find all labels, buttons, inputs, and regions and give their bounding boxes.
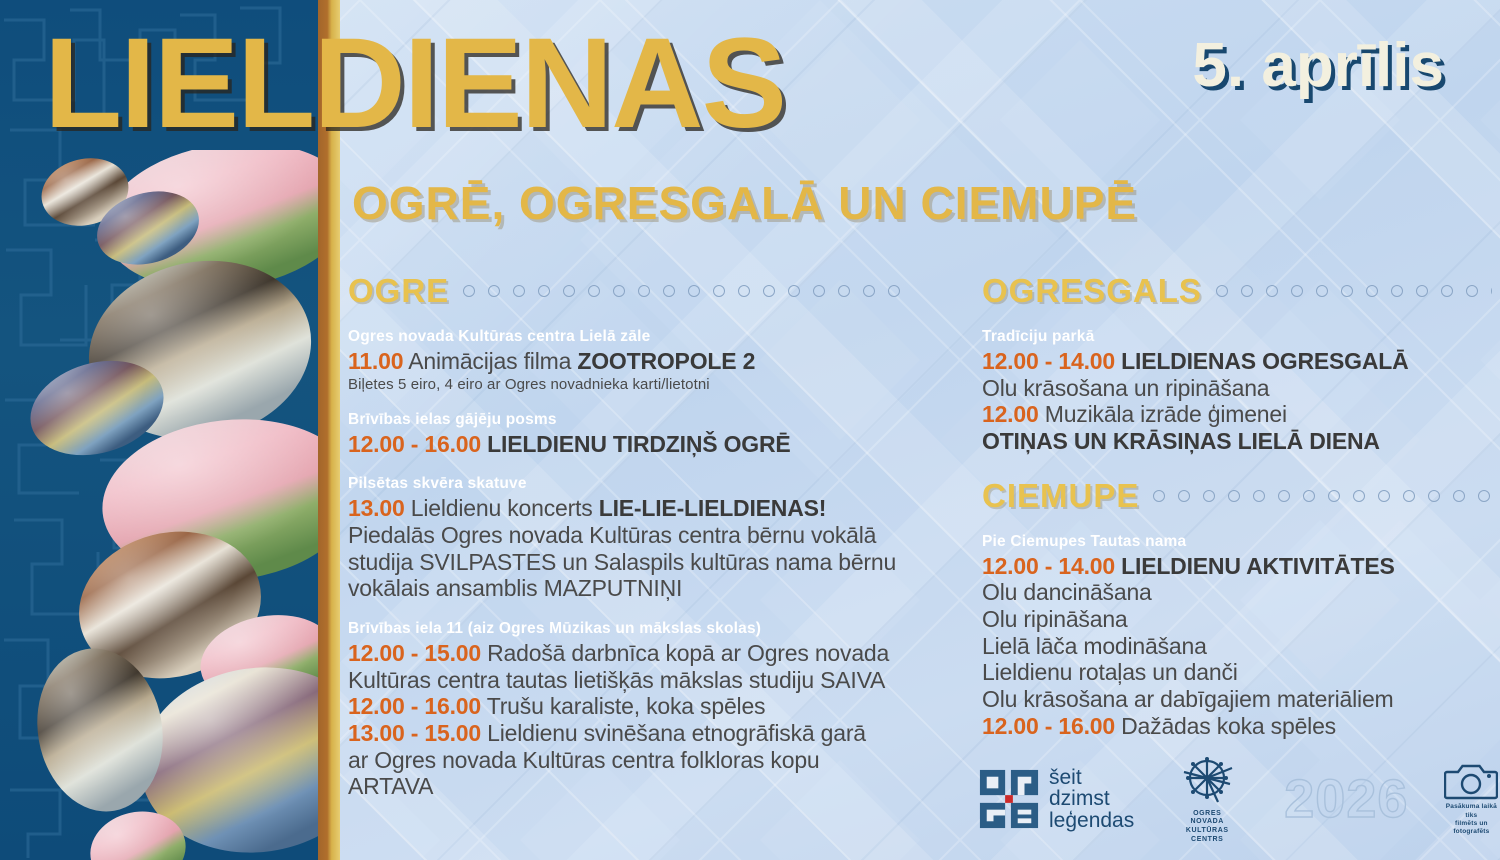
event-text: Lieldienu koncerts: [405, 495, 599, 521]
footer-logos: šeit dzimst leģendas OGR: [978, 756, 1490, 842]
event-block: Pie Ciemupes Tautas nama 12.00 - 14.00 L…: [982, 533, 1492, 740]
event-text: Lieldienu svinēšana etnogrāfiskā garā: [481, 720, 866, 746]
kc-line2: KULTŪRAS CENTRS: [1178, 827, 1236, 845]
section-header-ogre: OGRE: [348, 272, 908, 310]
event-time: 13.00: [348, 495, 405, 521]
event-time: 12.00 - 16.00: [348, 431, 481, 457]
event-line: 12.00 - 16.00 Trušu karaliste, koka spēl…: [348, 693, 908, 720]
event-venue: Tradīciju parkā: [982, 328, 1492, 346]
event-venue: Pie Ciemupes Tautas nama: [982, 533, 1492, 551]
event-highlight: LIELDIENAS OGRESGALĀ: [1121, 348, 1408, 374]
spacer: [982, 455, 1492, 477]
ogre-brand-logo: šeit dzimst leģendas: [978, 767, 1134, 832]
event-subline: Lieldienu rotaļas un danči: [982, 659, 1492, 686]
section-title: OGRESGALS: [982, 272, 1202, 310]
event-line: 13.00 Lieldienu koncerts LIE-LIE-LIELDIE…: [348, 495, 908, 522]
event-text: Animācijas filma: [403, 348, 577, 374]
event-text: Dažādas koka spēles: [1115, 713, 1336, 739]
event-block: Tradīciju parkā 12.00 - 14.00 LIELDIENAS…: [982, 328, 1492, 455]
camera-icon: [1444, 761, 1498, 801]
page-title: LIELDIENAS: [44, 20, 785, 148]
event-highlight: LIELDIENU AKTIVITĀTES: [1121, 553, 1395, 579]
event-line: 12.00 - 14.00 LIELDIENAS OGRESGALĀ: [982, 348, 1492, 375]
event-subline: Piedalās Ogres novada Kultūras centra bē…: [348, 522, 908, 549]
section-title: CIEMUPE: [982, 477, 1139, 515]
event-highlight: ZOOTROPOLE 2: [577, 348, 755, 374]
kulturas-centrs-caption: OGRES NOVADA KULTŪRAS CENTRS: [1178, 810, 1236, 845]
photo-notice: Pasākuma laikā tiks filmēts un fotografē…: [1444, 761, 1498, 837]
event-subline: Lielā lāča modināšana: [982, 633, 1492, 660]
event-subline: Olu dancināšana: [982, 579, 1492, 606]
page-subtitle: OGRĒ, OGRESGALĀ UN CIEMUPĒ: [352, 176, 1137, 230]
ogre-logo-icon: [978, 768, 1040, 830]
event-line: 11.00 Animācijas filma ZOOTROPOLE 2: [348, 348, 908, 375]
event-time: 12.00: [982, 401, 1039, 427]
event-subline: Olu krāsošana un ripināšana: [982, 375, 1492, 402]
sun-compass-icon: [1178, 754, 1236, 808]
poster-root: LIELDIENAS OGRĒ, OGRESGALĀ UN CIEMUPĒ 5.…: [0, 0, 1500, 860]
event-text: Trušu karaliste, koka spēles: [481, 693, 765, 719]
ogre-slogan-line1: šeit: [1049, 767, 1134, 789]
event-venue: Brīvības ielas gājēju posms: [348, 411, 908, 429]
photo-notice-line1: Pasākuma laikā tiks: [1444, 803, 1498, 820]
event-subline: Kultūras centra tautas lietišķās mākslas…: [348, 667, 908, 694]
kc-line1: OGRES NOVADA: [1178, 810, 1236, 828]
event-line: OTIŅAS UN KRĀSIŅAS LIELĀ DIENA: [982, 428, 1492, 455]
column-ogresgals-ciemupe: OGRESGALS Tradīciju parkā 12.00 - 14.00 …: [982, 272, 1492, 739]
event-line: 12.00 - 14.00 LIELDIENU AKTIVITĀTES: [982, 553, 1492, 580]
event-line: 12.00 Muzikāla izrāde ģimenei: [982, 401, 1492, 428]
event-time: 12.00 - 16.00: [982, 713, 1115, 739]
event-highlight: OTIŅAS UN KRĀSIŅAS LIELĀ DIENA: [982, 428, 1380, 454]
event-subline: Olu ripināšana: [982, 606, 1492, 633]
section-header-ogresgals: OGRESGALS: [982, 272, 1492, 310]
event-note: Biļetes 5 eiro, 4 eiro ar Ogres novadnie…: [348, 376, 908, 393]
dotted-rule: [1216, 284, 1492, 298]
event-subline: ar Ogres novada Kultūras centra folklora…: [348, 747, 908, 800]
dotted-rule: [1153, 489, 1492, 503]
year-outline-text: 2026: [1284, 768, 1408, 830]
event-time: 13.00 - 15.00: [348, 720, 481, 746]
photo-notice-line2: filmēts un fotografēts: [1444, 820, 1498, 837]
event-highlight: LIELDIENU TIRDZIŅŠ OGRĒ: [487, 431, 790, 457]
event-text: Muzikāla izrāde ģimenei: [1039, 401, 1287, 427]
event-block: Pilsētas skvēra skatuve 13.00 Lieldienu …: [348, 475, 908, 602]
kulturas-centrs-logo: OGRES NOVADA KULTŪRAS CENTRS: [1178, 754, 1236, 845]
section-header-ciemupe: CIEMUPE: [982, 477, 1492, 515]
event-subline: Olu krāsošana ar dabīgajiem materiāliem: [982, 686, 1492, 713]
event-block: Ogres novada Kultūras centra Lielā zāle …: [348, 328, 908, 393]
column-ogre: OGRE Ogres novada Kultūras centra Lielā …: [348, 272, 908, 800]
event-line: 13.00 - 15.00 Lieldienu svinēšana etnogr…: [348, 720, 908, 747]
event-time: 12.00 - 14.00: [982, 348, 1115, 374]
event-block: Brīvības ielas gājēju posms 12.00 - 16.0…: [348, 411, 908, 458]
ogre-slogan-line2: dzimst: [1049, 788, 1134, 810]
event-line: 12.00 - 16.00 LIELDIENU TIRDZIŅŠ OGRĒ: [348, 431, 908, 458]
event-highlight: LIE-LIE-LIELDIENAS!: [599, 495, 826, 521]
event-time: 11.00: [348, 348, 403, 374]
event-venue: Ogres novada Kultūras centra Lielā zāle: [348, 328, 908, 346]
event-line: 12.00 - 16.00 Dažādas koka spēles: [982, 713, 1492, 740]
event-subline: vokālais ansamblis MAZPUTNIŅI: [348, 575, 908, 602]
painted-eggs-illustration: [0, 150, 318, 860]
event-venue: Pilsētas skvēra skatuve: [348, 475, 908, 493]
event-date: 5. aprīlis: [1192, 30, 1444, 101]
event-time: 12.00 - 14.00: [982, 553, 1115, 579]
event-text: Radošā darbnīca kopā ar Ogres novada: [481, 640, 889, 666]
ogre-slogan-line3: leģendas: [1049, 810, 1134, 832]
dotted-rule: [463, 284, 908, 298]
event-block: Brīvības iela 11 (aiz Ogres Mūzikas un m…: [348, 620, 908, 800]
event-time: 12.00 - 16.00: [348, 693, 481, 719]
section-title: OGRE: [348, 272, 449, 310]
event-subline: studija SVILPASTES un Salaspils kultūras…: [348, 549, 908, 576]
photo-notice-caption: Pasākuma laikā tiks filmēts un fotografē…: [1444, 803, 1498, 837]
event-venue: Brīvības iela 11 (aiz Ogres Mūzikas un m…: [348, 620, 908, 638]
event-line: 12.00 - 15.00 Radošā darbnīca kopā ar Og…: [348, 640, 908, 667]
event-time: 12.00 - 15.00: [348, 640, 481, 666]
ogre-slogan: šeit dzimst leģendas: [1049, 767, 1134, 832]
